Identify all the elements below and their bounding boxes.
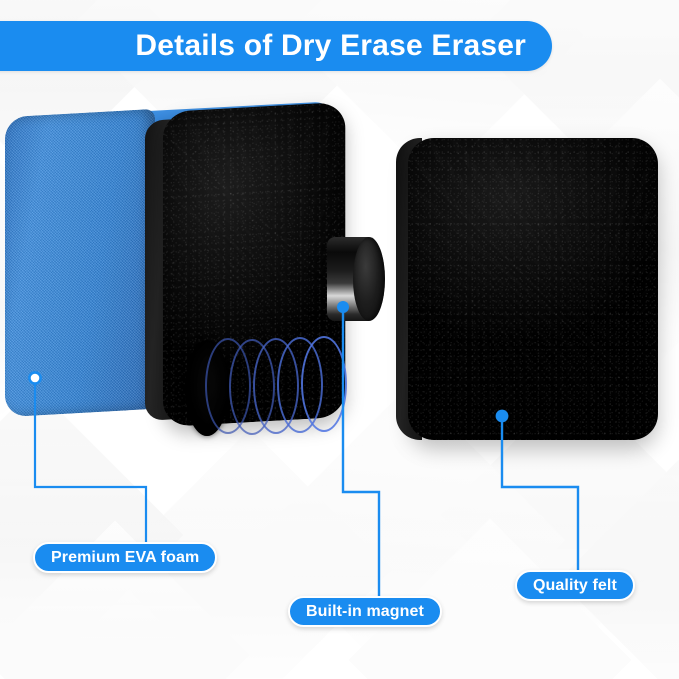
- callout-label-built-in-magnet[interactable]: Built-in magnet: [288, 596, 442, 627]
- felt-face-right: [408, 138, 658, 440]
- callout-label-text: Premium EVA foam: [51, 550, 199, 566]
- callout-label-quality-felt[interactable]: Quality felt: [515, 570, 635, 601]
- callout-label-text: Built-in magnet: [306, 604, 424, 620]
- infographic-canvas: Details of Dry Erase Eraser: [0, 0, 679, 679]
- title-banner: Details of Dry Erase Eraser: [0, 21, 552, 71]
- callout-label-premium-eva-foam[interactable]: Premium EVA foam: [33, 542, 217, 573]
- product-magnet-puck: [327, 237, 385, 321]
- magnet-field-ring: [301, 336, 347, 432]
- product-eraser-angled: [5, 108, 330, 433]
- magnet-cylinder-face: [353, 237, 385, 321]
- felt-texture: [408, 138, 658, 440]
- eva-foam-body: [5, 109, 155, 417]
- callout-label-text: Quality felt: [533, 578, 617, 594]
- page-title: Details of Dry Erase Eraser: [135, 31, 526, 61]
- product-eraser-felt: [396, 138, 658, 440]
